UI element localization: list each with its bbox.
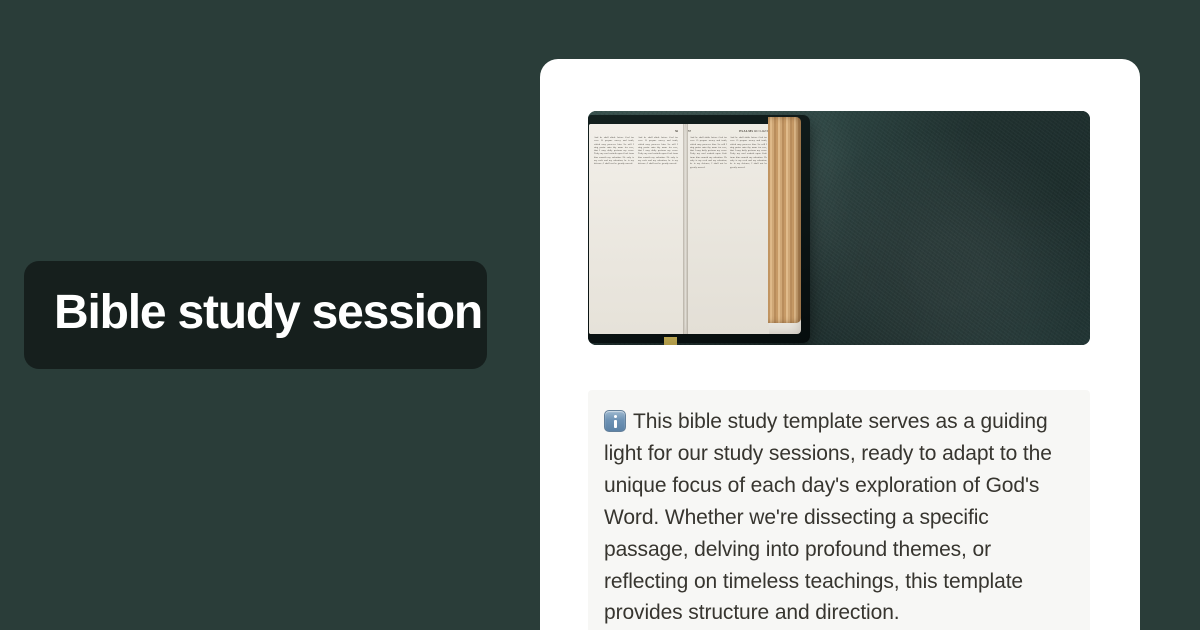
page-edges xyxy=(768,117,801,323)
page-column-4: And he shall abide before God for ever: … xyxy=(730,136,767,169)
folio-right: 57 xyxy=(688,129,691,133)
title-section: Bible study session xyxy=(0,0,540,630)
page-column-3: And he shall abide before God for ever: … xyxy=(690,136,727,169)
page-title: Bible study session xyxy=(54,287,457,339)
cover-image: 56 57 PSALMS 61:1-62:8 And he shall abid… xyxy=(588,111,1090,345)
ribbon-bookmark xyxy=(664,337,677,345)
running-head: PSALMS 61:1-62:8 xyxy=(697,129,769,133)
book-gutter xyxy=(683,124,688,334)
open-bible-photo: 56 57 PSALMS 61:1-62:8 And he shall abid… xyxy=(588,115,810,343)
page-column-2: And he shall abide before God for ever: … xyxy=(638,136,678,166)
preview-card: 56 57 PSALMS 61:1-62:8 And he shall abid… xyxy=(540,59,1140,630)
description-callout: This bible study template serves as a gu… xyxy=(588,390,1090,630)
folio-left: 56 xyxy=(675,129,678,133)
description-text: This bible study template serves as a gu… xyxy=(604,410,1052,624)
title-badge: Bible study session xyxy=(24,261,487,369)
description-text-wrapper: This bible study template serves as a gu… xyxy=(604,406,1072,629)
page-column-1: And he shall abide before God for ever: … xyxy=(594,136,634,166)
information-emoji xyxy=(604,410,626,432)
